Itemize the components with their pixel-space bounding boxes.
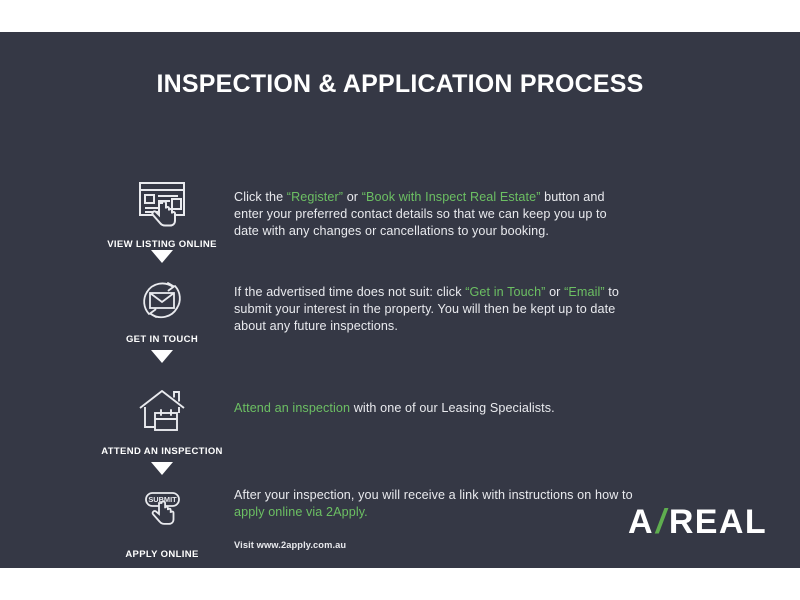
- step-4-label: APPLY ONLINE: [92, 549, 232, 560]
- step-4-text-part-1: apply online via 2Apply.: [234, 505, 368, 519]
- step-1-label: VIEW LISTING ONLINE: [92, 239, 232, 250]
- step-4-text-part-0: After your inspection, you will receive …: [234, 488, 633, 502]
- step-1-text-part-3: “Book with Inspect Real Estate”: [362, 190, 541, 204]
- step-3-icon-column: ATTEND AN INSPECTION: [92, 384, 232, 457]
- house-calendar-icon: [92, 384, 232, 440]
- submit-button-click-icon: SUBMIT: [92, 487, 232, 543]
- step-4-icon-column: SUBMIT APPLY ONLINE: [92, 487, 232, 560]
- logo-text-right: REAL: [669, 503, 767, 542]
- step-4-footnote: Visit www.2apply.com.au: [234, 537, 634, 554]
- listing-window-click-icon: [92, 177, 232, 233]
- logo-text-left: A: [628, 503, 654, 542]
- step-1-text-part-1: “Register”: [287, 190, 343, 204]
- step-3-text-part-1: with one of our Leasing Specialists.: [350, 401, 555, 415]
- step-1-text-part-2: or: [343, 190, 362, 204]
- step-4-text: After your inspection, you will receive …: [234, 487, 634, 521]
- envelope-refresh-icon: [92, 272, 232, 328]
- step-1-icon-column: VIEW LISTING ONLINE: [92, 177, 232, 250]
- brand-logo: A / REAL: [628, 503, 767, 542]
- step-2-text: If the advertised time does not suit: cl…: [234, 284, 634, 336]
- step-3-text-part-0: Attend an inspection: [234, 401, 350, 415]
- step-3-label: ATTEND AN INSPECTION: [92, 446, 232, 457]
- page-title: INSPECTION & APPLICATION PROCESS: [0, 70, 800, 99]
- step-2-text-part-0: If the advertised time does not suit: cl…: [234, 285, 465, 299]
- step-1-text: Click the “Register” or “Book with Inspe…: [234, 189, 634, 241]
- step-1-text-part-0: Click the: [234, 190, 287, 204]
- step-arrow-3: [92, 462, 232, 480]
- slide-canvas: INSPECTION & APPLICATION PROCESS VIEW LI…: [0, 32, 800, 568]
- step-2-label: GET IN TOUCH: [92, 334, 232, 345]
- logo-slash-icon: /: [654, 503, 669, 542]
- step-2-text-part-3: “Email”: [564, 285, 605, 299]
- step-arrow-2: [92, 350, 232, 368]
- step-2-text-part-1: “Get in Touch”: [465, 285, 545, 299]
- step-2-icon-column: GET IN TOUCH: [92, 272, 232, 345]
- step-arrow-1: [92, 250, 232, 268]
- step-3-text: Attend an inspection with one of our Lea…: [234, 400, 634, 417]
- step-2-text-part-2: or: [545, 285, 564, 299]
